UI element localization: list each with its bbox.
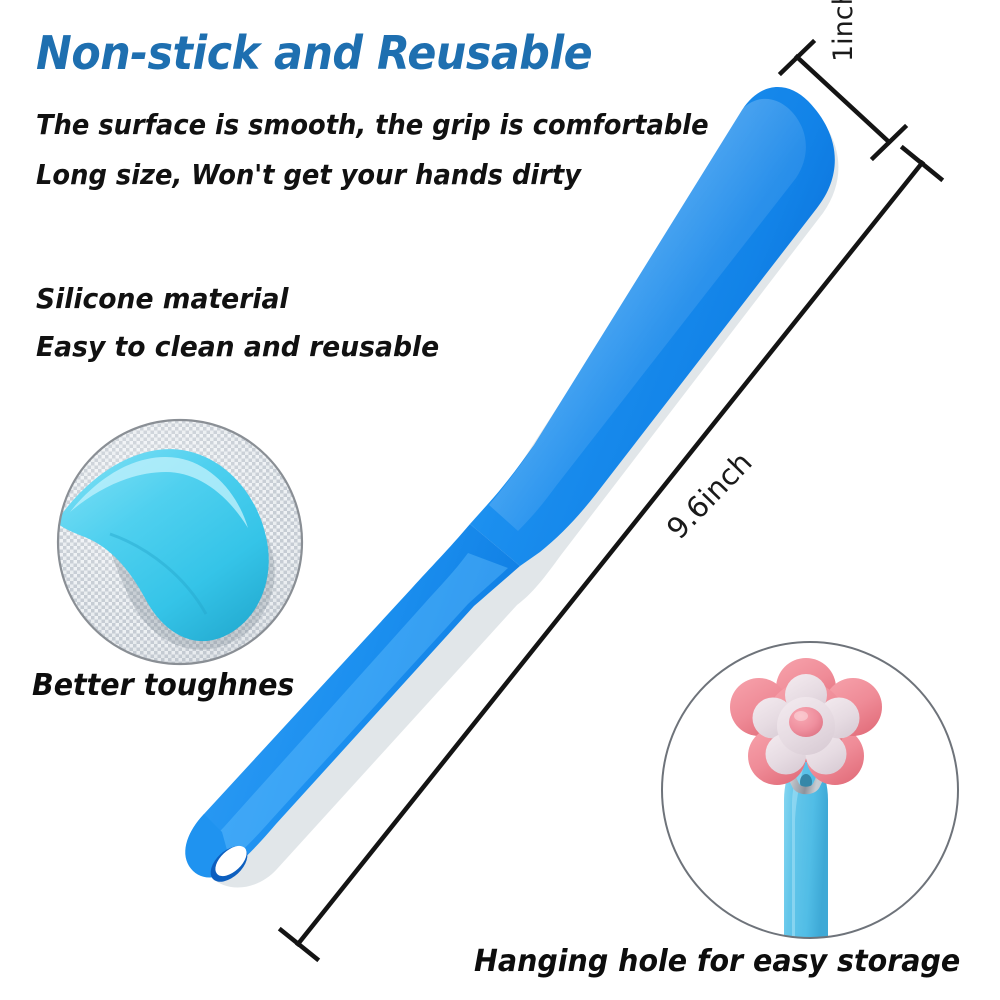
- page-title: Non-stick and Reusable: [36, 26, 592, 80]
- artwork-canvas: [0, 0, 1000, 1000]
- inset-caption-hanging: Hanging hole for easy storage: [474, 944, 960, 979]
- product-infographic: Non-stick and Reusable The surface is sm…: [0, 0, 1000, 1000]
- material-line-1: Silicone material: [36, 282, 289, 315]
- subheading-line-1: The surface is smooth, the grip is comfo…: [36, 108, 709, 141]
- inset-hanging-hole: [662, 642, 958, 938]
- subheading-line-2: Long size, Won't get your hands dirty: [36, 158, 581, 191]
- inset-caption-toughness: Better toughnes: [32, 668, 294, 703]
- flower-center: [789, 707, 823, 737]
- material-line-2: Easy to clean and reusable: [36, 330, 439, 363]
- width-dimension-label: 1inch: [828, 0, 859, 62]
- inset-better-toughness: [56, 420, 302, 664]
